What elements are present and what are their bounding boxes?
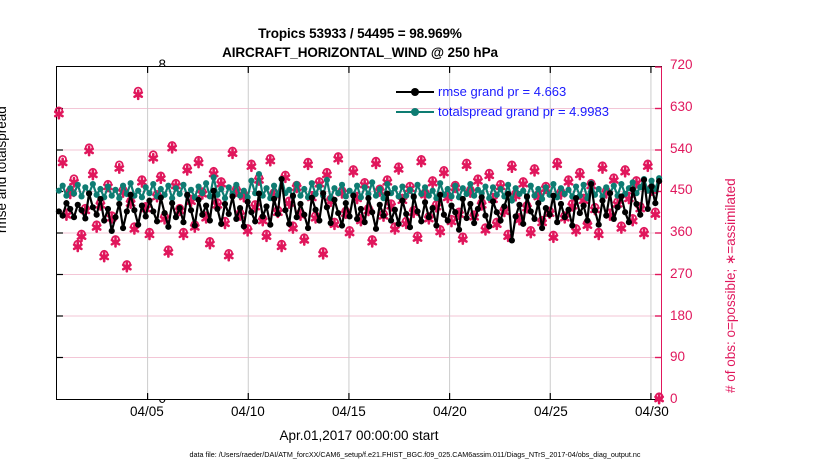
chart-legend: rmse grand pr = 4.663 totalspread grand …: [396, 82, 609, 122]
x-axis-label: Apr.01,2017 00:00:00 start: [56, 428, 662, 443]
y-tick-right: 630: [670, 99, 716, 114]
chart-title-line1: Tropics 53933 / 54495 = 98.969%: [0, 24, 720, 43]
x-tick: 04/30: [617, 404, 687, 419]
x-tick: 04/10: [213, 404, 283, 419]
x-tick: 04/05: [112, 404, 182, 419]
y-tick-right: 180: [670, 308, 716, 323]
chart-title-line2: AIRCRAFT_HORIZONTAL_WIND @ 250 hPa: [0, 43, 720, 62]
y-axis-left-label: rmse and totalspread: [0, 106, 9, 233]
y-axis-right-label: # of obs: o=possible; ∗=assimilated: [723, 178, 739, 393]
y-tick-right: 360: [670, 224, 716, 239]
y-tick-right: 450: [670, 182, 716, 197]
legend-item-totalspread[interactable]: totalspread grand pr = 4.9983: [396, 102, 609, 122]
legend-swatch-rmse: [396, 85, 434, 99]
chart-title: Tropics 53933 / 54495 = 98.969% AIRCRAFT…: [0, 24, 720, 62]
y-tick-right: 720: [670, 57, 716, 72]
x-tick: 04/25: [516, 404, 586, 419]
legend-label-totalspread: totalspread grand pr = 4.9983: [438, 105, 609, 119]
y-tick-right: 540: [670, 141, 716, 156]
legend-swatch-totalspread: [396, 105, 434, 119]
y-tick-right: 270: [670, 266, 716, 281]
legend-label-rmse: rmse grand pr = 4.663: [438, 85, 566, 99]
x-tick: 04/15: [314, 404, 384, 419]
data-file-footer: data file: /Users/raeder/DAI/ATM_forcXX/…: [0, 450, 830, 459]
x-tick: 04/20: [415, 404, 485, 419]
figure-canvas: Tropics 53933 / 54495 = 98.969% AIRCRAFT…: [0, 0, 830, 470]
y-tick-right: 90: [670, 349, 716, 364]
legend-item-rmse[interactable]: rmse grand pr = 4.663: [396, 82, 609, 102]
